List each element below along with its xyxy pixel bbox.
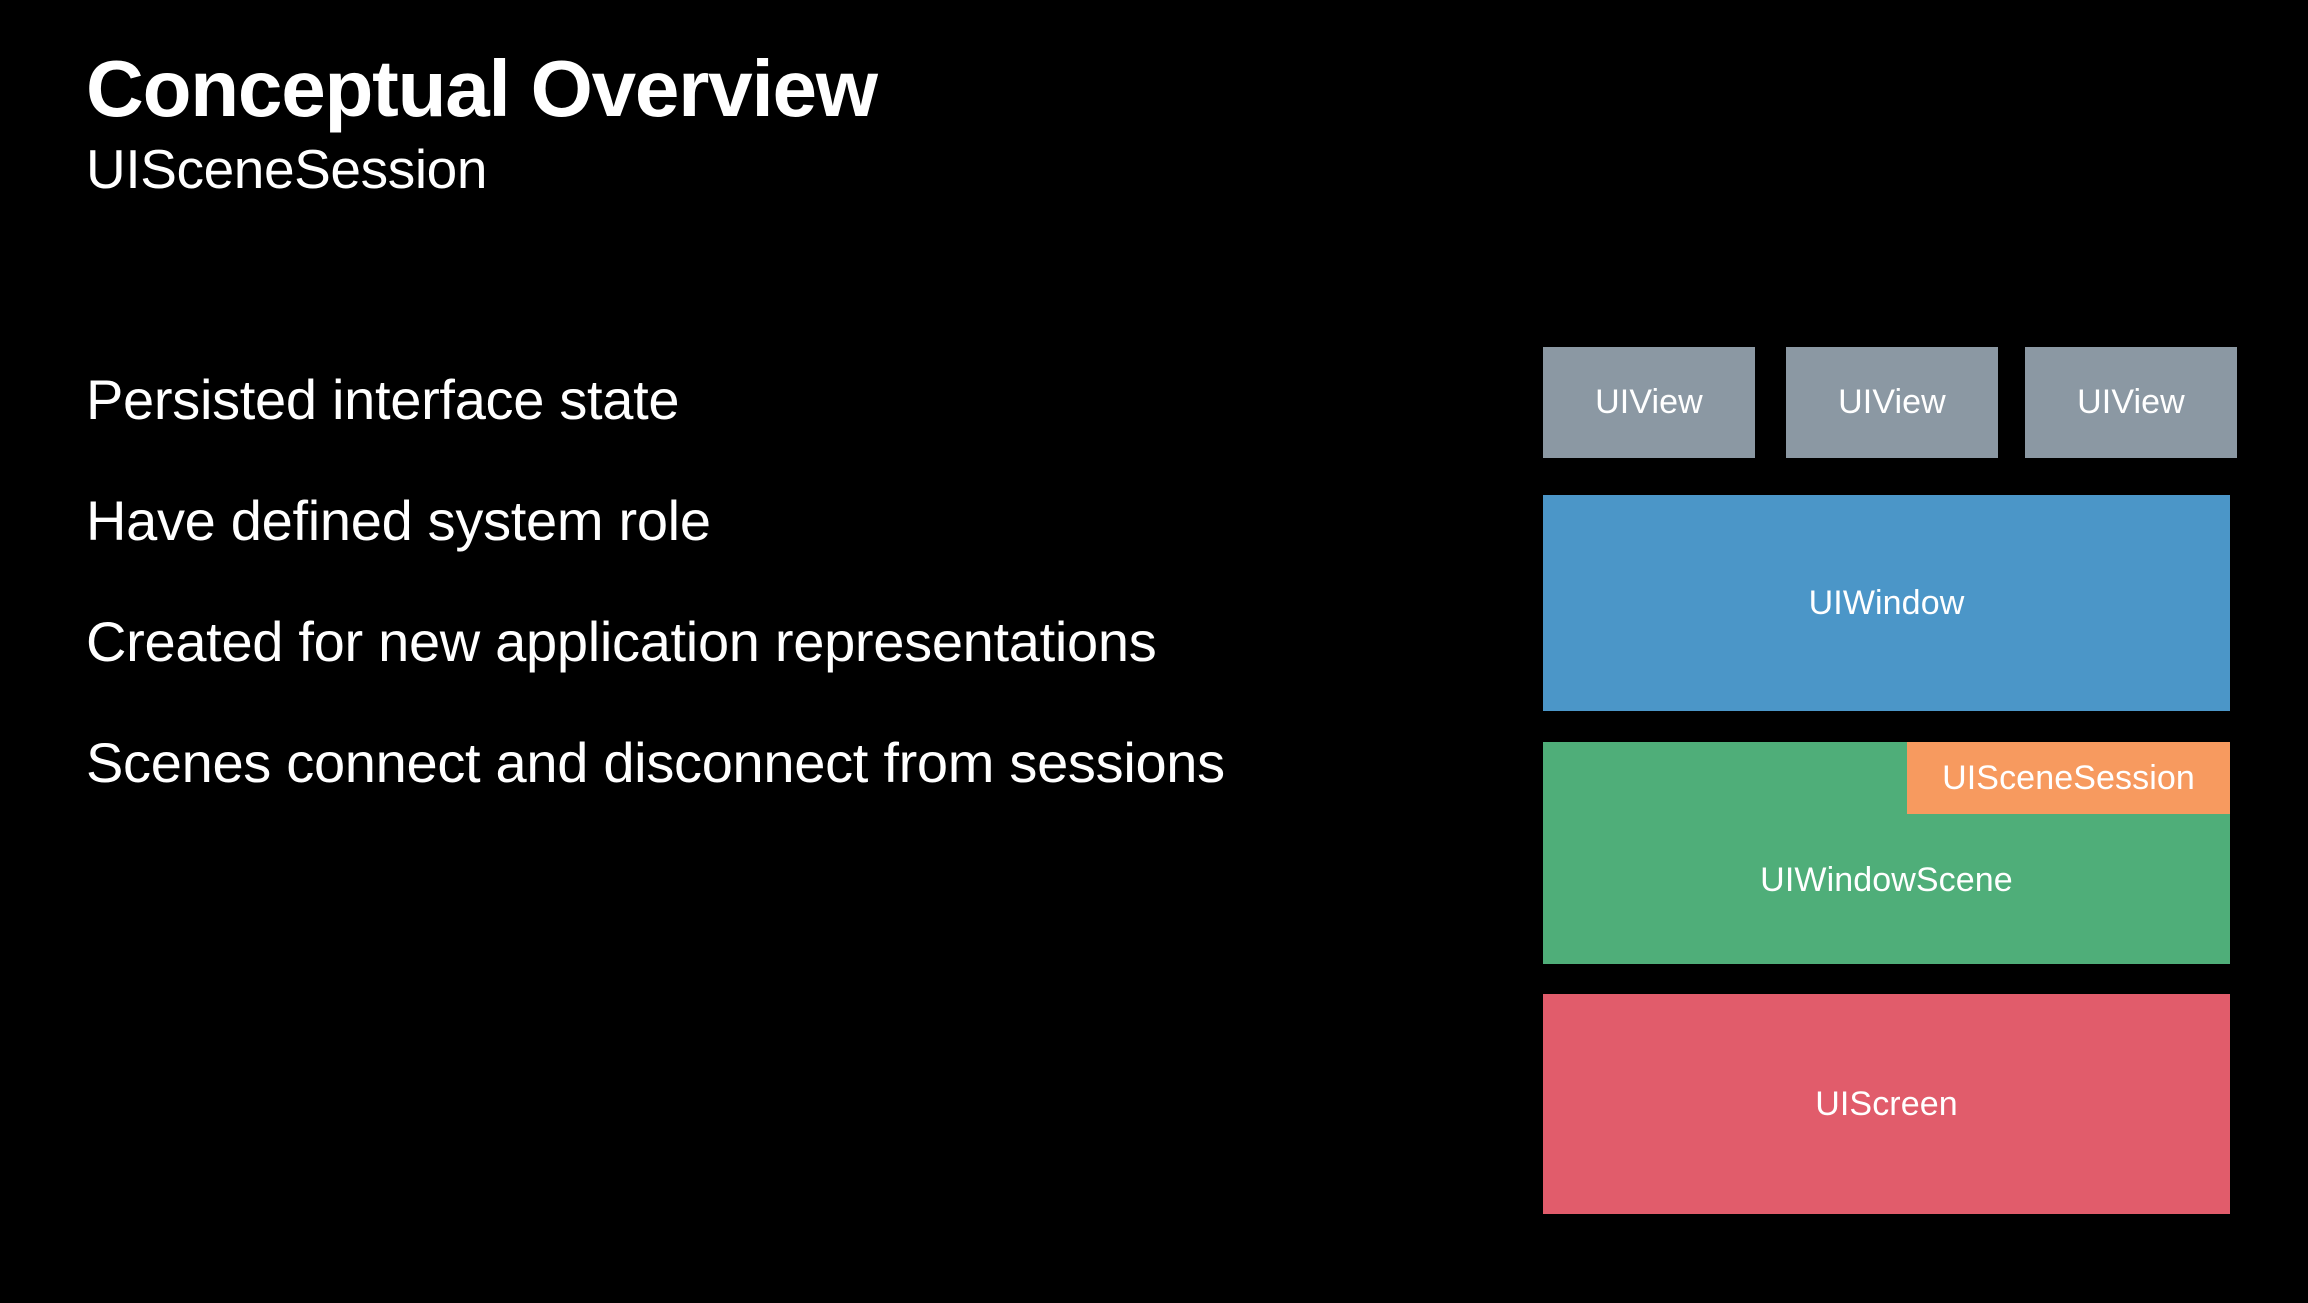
diagram-box-label: UIWindow [1809, 584, 1965, 623]
list-item: Persisted interface state [86, 372, 1466, 428]
diagram-box-uiview-2: UIView [1786, 347, 1998, 458]
list-item: Created for new application representati… [86, 614, 1466, 670]
diagram-box-label: UISceneSession [1942, 759, 2195, 798]
page-subtitle: UISceneSession [86, 138, 1386, 201]
heading-block: Conceptual Overview UISceneSession [86, 48, 1386, 201]
diagram-box-uiscenesession: UISceneSession [1907, 742, 2230, 814]
bullet-list: Persisted interface state Have defined s… [86, 372, 1466, 791]
diagram-box-uiwindowscene: UISceneSession UIWindowScene [1543, 742, 2230, 964]
diagram-box-label: UIScreen [1815, 1085, 1958, 1124]
list-item: Scenes connect and disconnect from sessi… [86, 735, 1466, 791]
diagram-box-label: UIView [1838, 383, 1946, 422]
diagram-box-label: UIWindowScene [1543, 861, 2230, 900]
diagram-box-uiwindow: UIWindow [1543, 495, 2230, 711]
slide-root: Conceptual Overview UISceneSession Persi… [0, 0, 2308, 1303]
list-item: Have defined system role [86, 493, 1466, 549]
page-title: Conceptual Overview [86, 48, 1386, 130]
diagram-box-label: UIView [1595, 383, 1703, 422]
diagram-box-uiview-3: UIView [2025, 347, 2237, 458]
diagram-box-uiscreen: UIScreen [1543, 994, 2230, 1214]
diagram-box-label: UIView [2077, 383, 2185, 422]
hierarchy-diagram: UIView UIView UIView UIWindow UISceneSes… [1543, 347, 2230, 1214]
diagram-box-uiview-1: UIView [1543, 347, 1755, 458]
